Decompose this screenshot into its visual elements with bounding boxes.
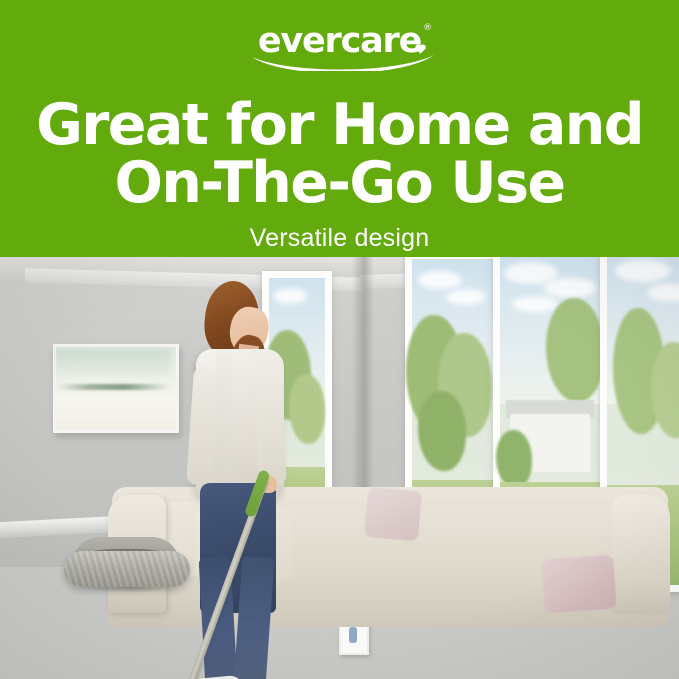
photo-vignette [0, 257, 679, 679]
lifestyle-photo [0, 257, 679, 679]
headline-line-2: On-The-Go Use [0, 154, 679, 212]
registered-trademark-icon: ® [423, 24, 432, 33]
headline: Great for Home and On-The-Go Use [0, 96, 679, 212]
header-banner: evercare ® Great for Home and On-The-Go … [0, 0, 679, 257]
headline-line-1: Great for Home and [36, 92, 643, 158]
brand-logo: evercare ® [0, 22, 679, 70]
product-lifestyle-ad: evercare ® Great for Home and On-The-Go … [0, 0, 679, 679]
swoosh-underline-icon [250, 54, 436, 71]
subtitle: Versatile design [0, 224, 679, 252]
